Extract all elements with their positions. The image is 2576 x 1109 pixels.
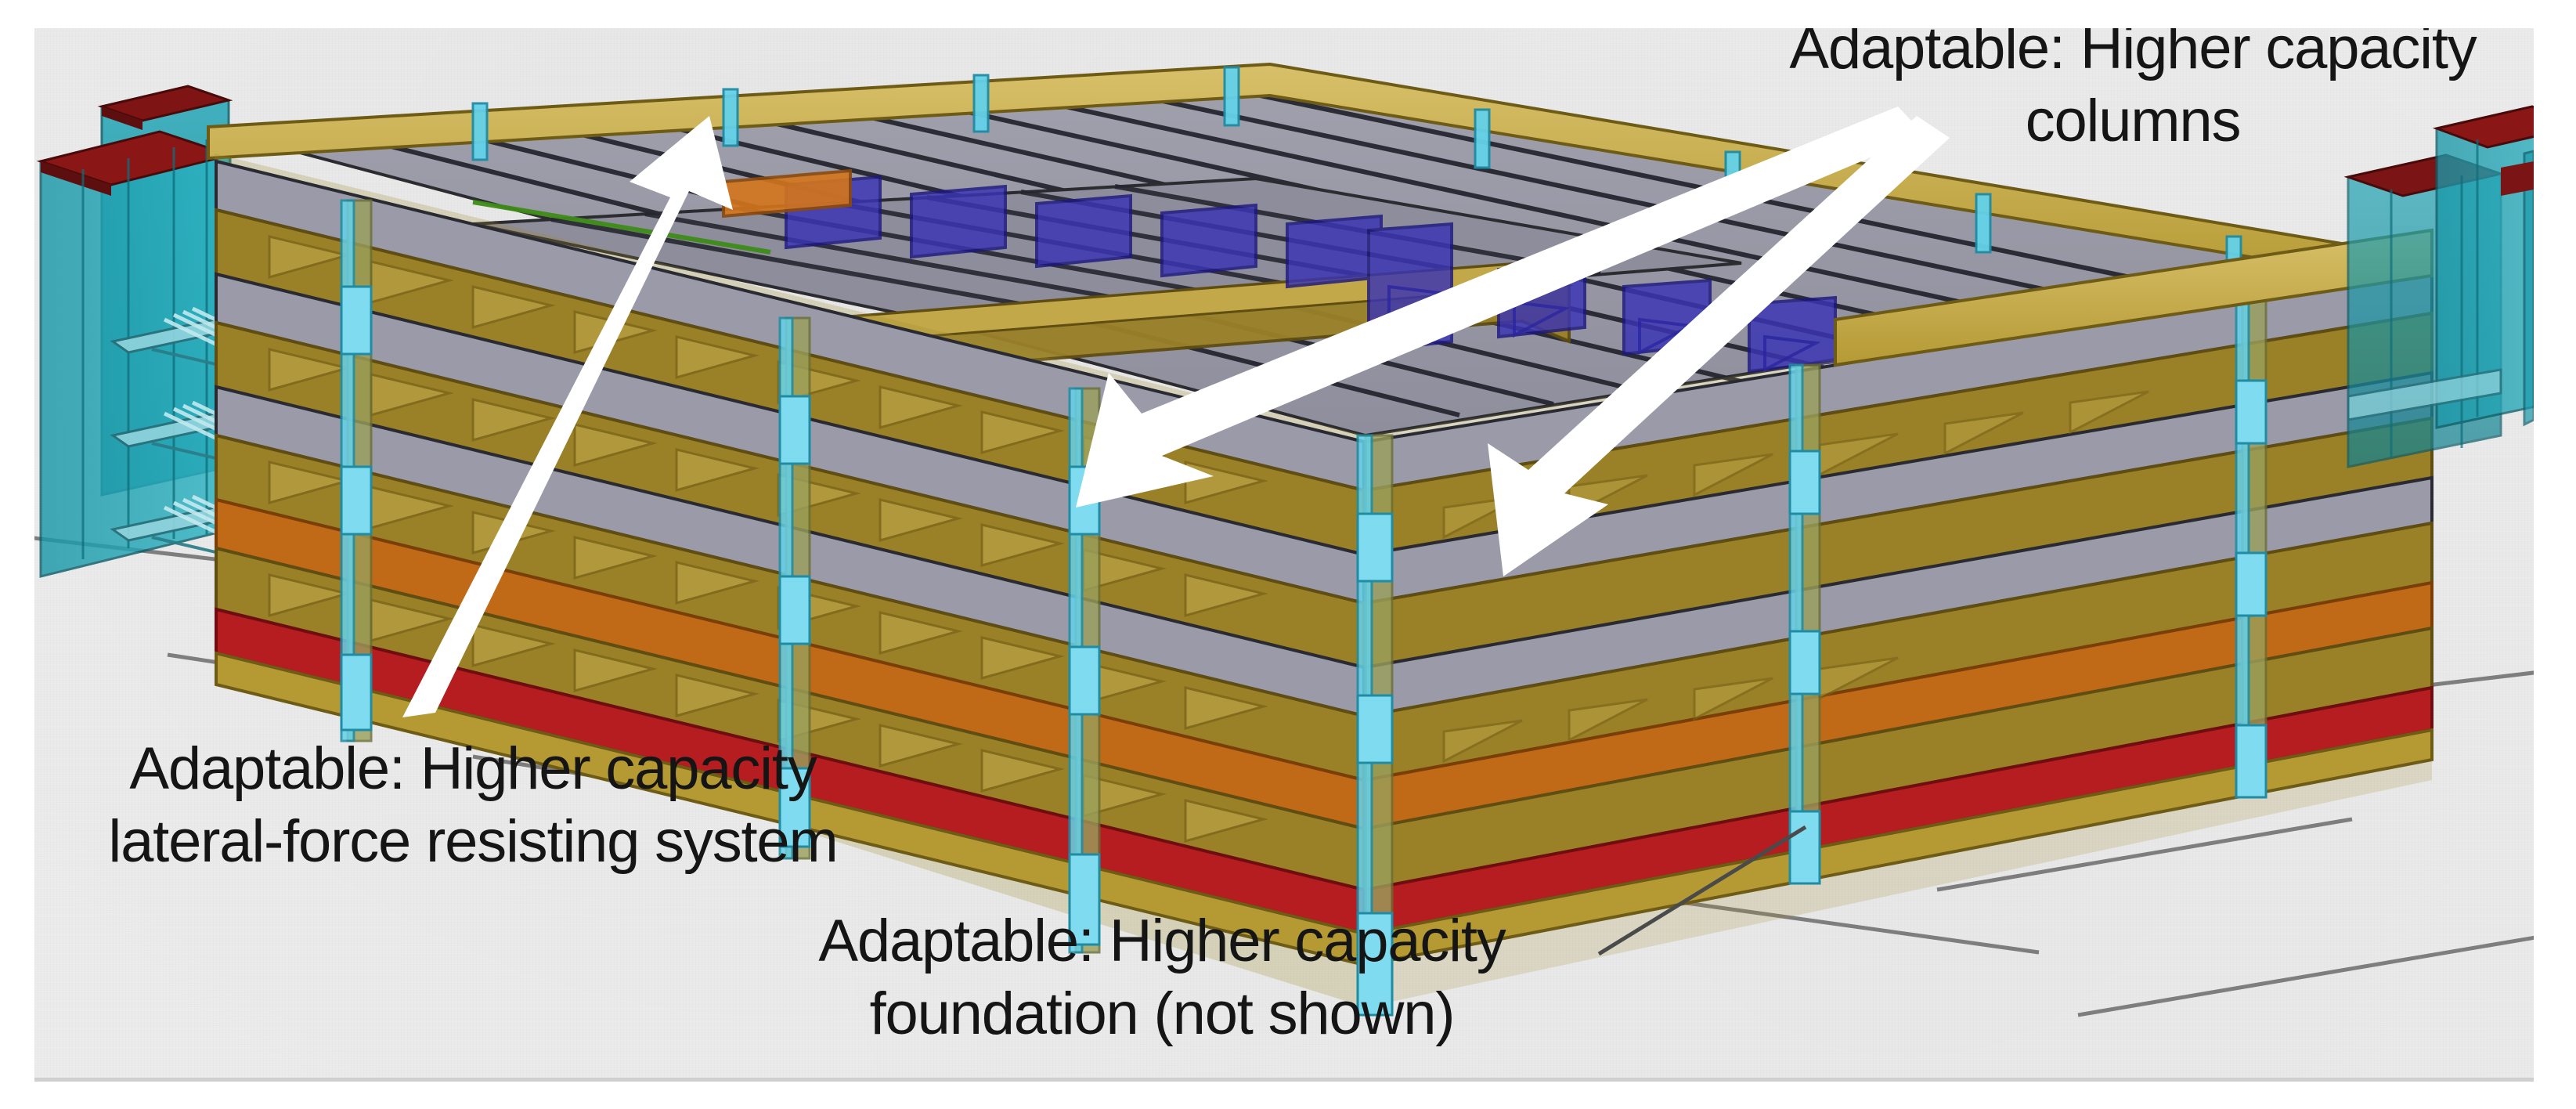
annotation-label-lateral-force: Adaptable: Higher capacity lateral-force… xyxy=(42,733,904,878)
annotation-label-foundation: Adaptable: Higher capacity foundation (n… xyxy=(708,905,1616,1050)
right-stair-core xyxy=(2348,107,2534,467)
model-canvas: Adaptable: Higher capacity columns Adapt… xyxy=(34,28,2534,1082)
figure-root: Adaptable: Higher capacity columns Adapt… xyxy=(0,0,2576,1109)
annotation-label-columns: Adaptable: Higher capacity columns xyxy=(1694,28,2534,157)
